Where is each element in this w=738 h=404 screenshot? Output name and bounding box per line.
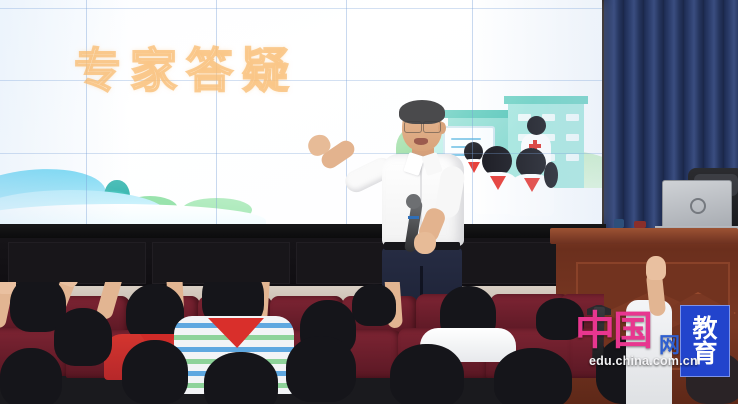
microphone-capsule-icon xyxy=(406,194,421,209)
watermark-badge-char-1: 教 xyxy=(692,316,717,342)
led-video-wall: 专家答疑 xyxy=(0,0,602,226)
speaker-glasses xyxy=(404,121,422,133)
raised-hand-palm xyxy=(646,256,666,280)
watermark: 中国 网 教 育 edu.china.com.cn xyxy=(575,305,735,393)
student-head xyxy=(0,348,62,404)
student-head xyxy=(204,352,278,404)
audience-area xyxy=(0,282,604,404)
student-head xyxy=(494,348,572,404)
slide-title: 专家答疑 xyxy=(74,32,298,101)
student-head xyxy=(122,340,188,404)
speaker-glasses xyxy=(423,121,441,133)
watermark-logo-text: 中国 xyxy=(575,311,651,351)
stage-front-panel xyxy=(152,242,290,284)
desk-object xyxy=(614,219,624,228)
podium-desktop xyxy=(550,228,738,244)
watermark-url: edu.china.com.cn xyxy=(589,354,698,368)
slide-window xyxy=(566,134,579,141)
stage-front-panel xyxy=(8,242,146,284)
slide-window xyxy=(566,114,579,121)
desk-object xyxy=(634,221,646,228)
led-panel-seam xyxy=(0,153,602,154)
laptop-logo-icon xyxy=(690,198,706,214)
student-head xyxy=(352,284,396,326)
microphone-band xyxy=(408,216,419,219)
slide-building-roof xyxy=(504,96,588,104)
student-head xyxy=(54,308,112,366)
speaker-mouth xyxy=(414,138,428,145)
student-head xyxy=(286,336,356,402)
photo-scene: 专家答疑 xyxy=(0,0,738,404)
student-head xyxy=(390,344,464,404)
slide-doctor-head xyxy=(527,116,546,135)
speaker-hand-right xyxy=(414,232,436,254)
led-panel-seam xyxy=(0,8,602,9)
slide-window xyxy=(566,154,579,161)
